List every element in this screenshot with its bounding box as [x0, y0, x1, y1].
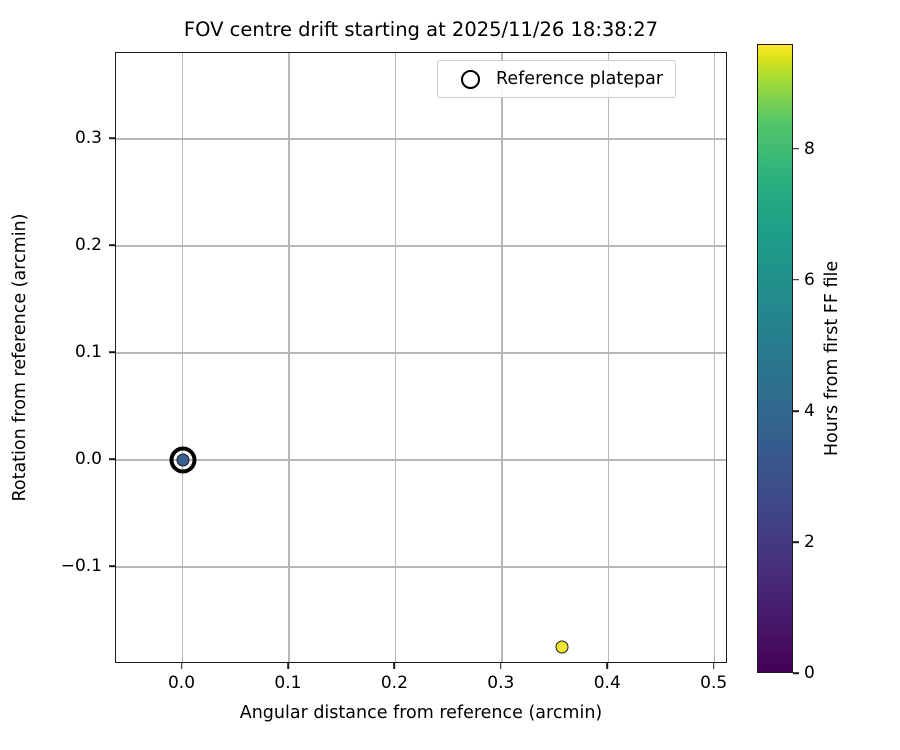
- gridline-horizontal: [116, 566, 726, 567]
- x-axis-label: Angular distance from reference (arcmin): [115, 702, 727, 724]
- x-tick-label: 0.2: [381, 673, 408, 693]
- y-tick-mark: [109, 351, 115, 353]
- y-tick-mark: [109, 565, 115, 567]
- colorbar-label: Hours from first FF file: [820, 44, 844, 673]
- colorbar-tick-label: 6: [804, 270, 815, 290]
- legend-marker-reference-platepar: [448, 70, 492, 89]
- data-point[interactable]: [176, 454, 189, 467]
- gridline-horizontal: [116, 138, 726, 139]
- gridline-horizontal: [116, 352, 726, 353]
- gridline-horizontal: [116, 459, 726, 460]
- x-tick-label: 0.5: [700, 673, 727, 693]
- colorbar-tick-mark: [793, 279, 799, 281]
- colorbar-tick-mark: [793, 410, 799, 412]
- gridline-vertical: [501, 53, 502, 662]
- colorbar-tick-mark: [793, 541, 799, 543]
- page-title: FOV centre drift starting at 2025/11/26 …: [115, 18, 727, 42]
- legend[interactable]: Reference platepar: [437, 60, 676, 98]
- x-tick-mark: [287, 663, 289, 669]
- y-tick-mark: [109, 244, 115, 246]
- colorbar-tick-label: 2: [804, 532, 815, 552]
- x-tick-mark: [394, 663, 396, 669]
- gridline-vertical: [182, 53, 183, 662]
- plot-area[interactable]: [115, 52, 727, 663]
- legend-label-reference-platepar: Reference platepar: [492, 69, 663, 89]
- x-tick-label: 0.3: [487, 673, 514, 693]
- x-tick-mark: [606, 663, 608, 669]
- x-tick-mark: [713, 663, 715, 669]
- colorbar-gradient: [757, 44, 793, 673]
- y-tick-mark: [109, 458, 115, 460]
- x-tick-label: 0.4: [594, 673, 621, 693]
- gridline-vertical: [714, 53, 715, 662]
- colorbar-tick-label: 8: [804, 139, 815, 159]
- gridline-vertical: [608, 53, 609, 662]
- y-tick-mark: [109, 137, 115, 139]
- open-circle-icon: [461, 70, 480, 89]
- colorbar-tick-mark: [793, 148, 799, 150]
- colorbar-tick-label: 4: [804, 401, 815, 421]
- colorbar-tick-mark: [793, 672, 799, 674]
- colorbar-tick-label: 0: [804, 663, 815, 683]
- figure-canvas: FOV centre drift starting at 2025/11/26 …: [0, 0, 900, 750]
- gridline-horizontal: [116, 245, 726, 246]
- gridline-vertical: [395, 53, 396, 662]
- x-tick-mark: [181, 663, 183, 669]
- x-tick-label: 0.1: [274, 673, 301, 693]
- colorbar[interactable]: 02468: [757, 44, 793, 673]
- x-tick-label: 0.0: [168, 673, 195, 693]
- data-point[interactable]: [556, 641, 569, 654]
- y-axis-label: Rotation from reference (arcmin): [8, 52, 32, 663]
- gridline-vertical: [288, 53, 289, 662]
- x-tick-mark: [500, 663, 502, 669]
